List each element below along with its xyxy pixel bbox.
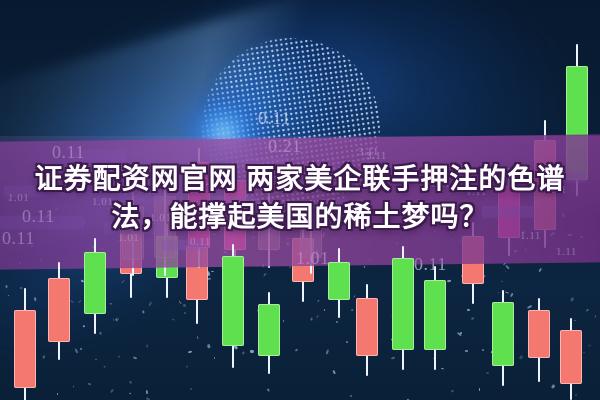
- page-title: 证券配资网官网 两家美企联手押注的色谱法，能撑起美国的稀土梦吗？: [0, 160, 600, 236]
- candlestick-body: [492, 302, 514, 366]
- candlestick-body: [528, 310, 550, 358]
- candlestick-body: [392, 258, 414, 350]
- candlestick-body: [258, 304, 280, 356]
- candlestick-body: [424, 280, 446, 350]
- candlestick-body: [328, 262, 350, 300]
- candlestick-body: [560, 330, 582, 384]
- candlestick-body: [356, 298, 378, 356]
- banner-image: 0.110.110.213.111.111.010.211.011.010.11…: [0, 0, 600, 400]
- candlestick-body: [48, 278, 70, 342]
- candlestick-body: [222, 256, 244, 346]
- candlestick-body: [14, 310, 36, 388]
- candlestick-body: [84, 252, 106, 314]
